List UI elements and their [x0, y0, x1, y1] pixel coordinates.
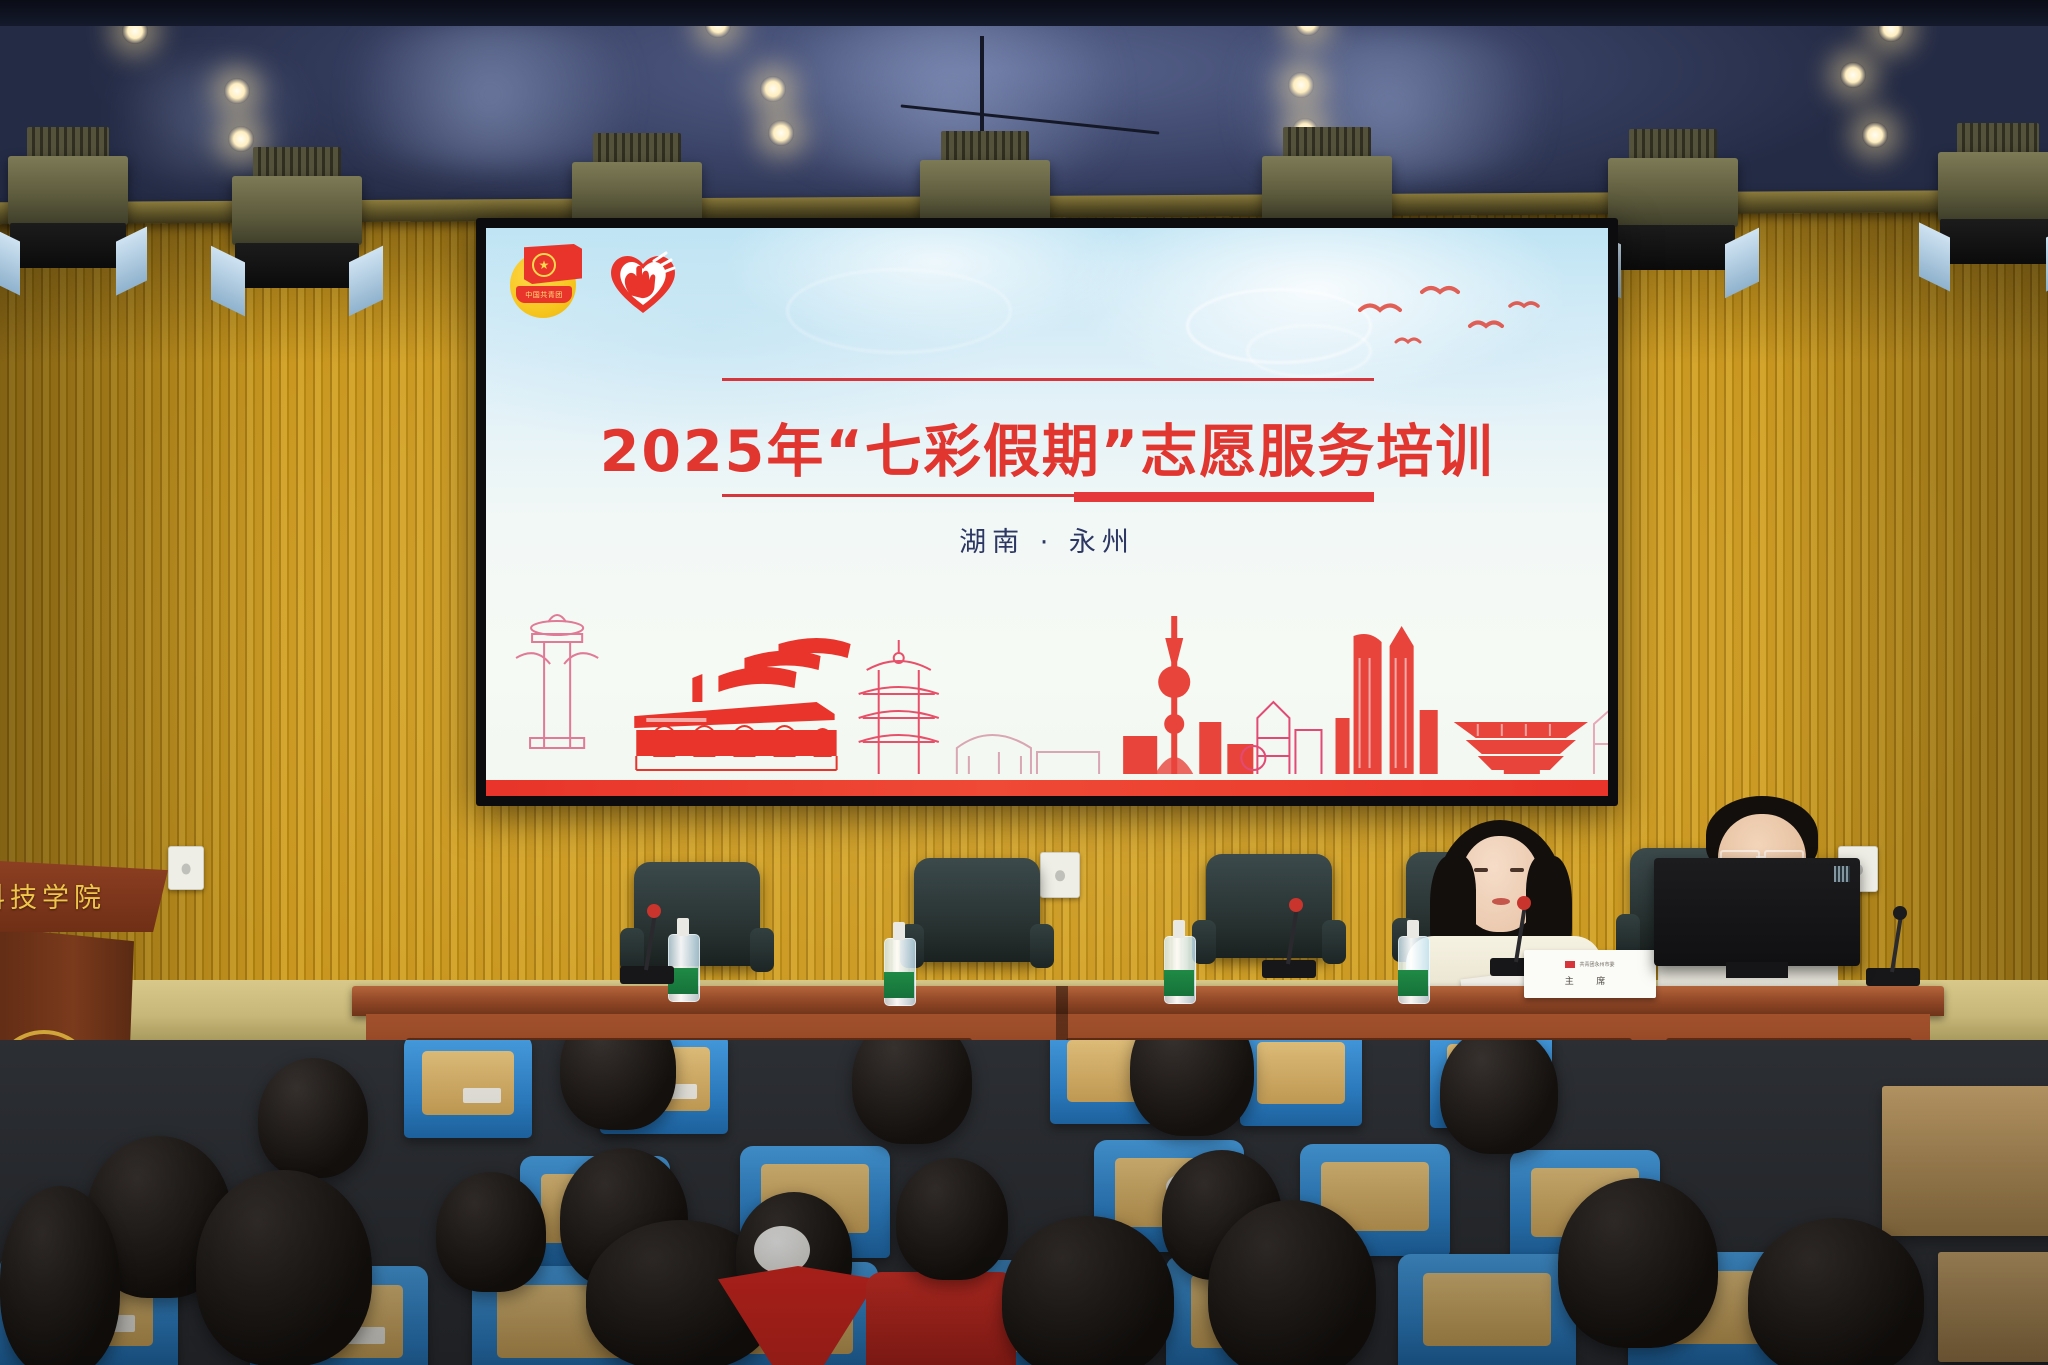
audience-member [1440, 1040, 1558, 1154]
ceiling-downlight [1288, 72, 1314, 98]
ceiling-downlight [1295, 10, 1321, 36]
nameplate-name: 主 席 [1565, 974, 1616, 987]
audience-member [1002, 1216, 1174, 1365]
desktop-monitor[interactable] [1654, 858, 1860, 990]
audience-member [0, 1186, 120, 1365]
side-table [1938, 1252, 2048, 1362]
desk-microphone[interactable] [1262, 900, 1316, 978]
ceiling-downlight [705, 12, 731, 38]
led-display-screen: 中国共青团 2025年“七彩假期”志愿服务培训 湖南 · 永州 [476, 218, 1618, 806]
audience-seating [0, 1040, 2048, 1365]
audience-member [1208, 1200, 1376, 1365]
ceiling-downlight [760, 76, 786, 102]
ceiling-downlight [1840, 62, 1866, 88]
auditorium-seat[interactable] [404, 1040, 532, 1138]
ceiling-downlight [224, 78, 250, 104]
auditorium-seat[interactable] [1398, 1254, 1576, 1365]
ceiling-downlight [228, 126, 254, 152]
slide-content: 中国共青团 2025年“七彩假期”志愿服务培训 湖南 · 永州 [486, 228, 1608, 796]
water-bottle[interactable] [1164, 920, 1194, 1004]
audience-member [896, 1158, 1008, 1280]
slide-title: 2025年“七彩假期”志愿服务培训 [486, 406, 1608, 488]
wall-socket[interactable] [168, 846, 204, 890]
volunteer-heart-hand-icon [606, 247, 680, 317]
communist-youth-league-emblem-icon: 中国共青团 [508, 244, 584, 320]
audience-member [258, 1058, 368, 1178]
stage-light [1608, 158, 1738, 270]
audience-member [560, 1040, 676, 1130]
stage-light [1938, 152, 2048, 264]
nameplate-badge-icon [1565, 961, 1575, 968]
nameplate-org: 共青团永州市委 [1579, 961, 1614, 968]
ceiling-downlight [1862, 122, 1888, 148]
audience-member [436, 1172, 546, 1292]
conference-hall-scene: 中国共青团 2025年“七彩假期”志愿服务培训 湖南 · 永州 [0, 0, 2048, 1365]
audience-member [852, 1040, 972, 1144]
title-top-rule [722, 378, 1374, 381]
ceiling-downlight [122, 18, 148, 44]
water-bottle[interactable] [1398, 920, 1428, 1004]
asset-qr-tag-icon [1834, 866, 1850, 882]
audience-member [1130, 1040, 1254, 1136]
china-landmarks-skyline [486, 598, 1608, 778]
slide-bottom-bar [486, 780, 1608, 796]
ceiling-downlight [768, 120, 794, 146]
flying-birds-icon [1352, 280, 1562, 360]
ceiling-downlight [1878, 16, 1904, 42]
conference-chair[interactable] [900, 858, 1054, 990]
water-bottle[interactable] [884, 922, 914, 1006]
red-vest [866, 1272, 1016, 1365]
audience-member [1558, 1178, 1718, 1348]
slide-logos: 中国共青团 [508, 244, 680, 320]
nameplate: 共青团永州市委 主 席 [1524, 950, 1656, 998]
stage-light [232, 176, 362, 288]
side-table [1882, 1086, 2048, 1236]
audience-member [196, 1170, 372, 1365]
stage-light [8, 156, 128, 268]
league-band-text: 中国共青团 [516, 286, 572, 303]
lectern-institution-text: 科技学院 [0, 876, 128, 915]
title-bottom-rule [722, 492, 1374, 502]
auditorium-seat[interactable] [1240, 1040, 1362, 1126]
slide-subtitle: 湖南 · 永州 [486, 520, 1608, 559]
floor-microphone[interactable] [1866, 908, 1920, 986]
desk-microphone[interactable] [620, 906, 674, 984]
audience-member [1748, 1218, 1924, 1365]
